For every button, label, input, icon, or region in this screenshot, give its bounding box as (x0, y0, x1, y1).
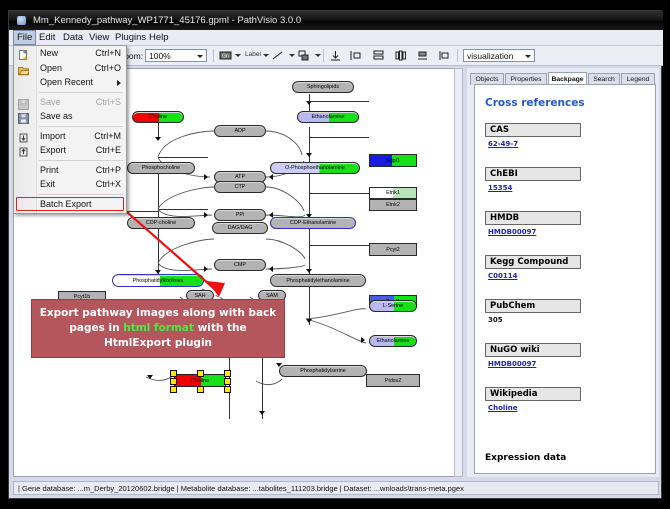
submenu-arrow-icon (117, 80, 121, 86)
menu-item-print-shortcut: Ctrl+P (96, 163, 121, 178)
selection-handle-ml[interactable] (170, 378, 177, 385)
selection-handle-tc[interactable] (197, 370, 204, 377)
menu-item-open-recent-label: Open Recent (40, 75, 93, 90)
metabolite-node-phosphocholine[interactable]: Phosphocholine (127, 162, 195, 174)
edge-etn-v2 (309, 127, 310, 167)
window-titlebar: Mm_Kennedy_pathway_WP1771_45176.gpml - P… (9, 11, 663, 30)
xref-value-kegg[interactable]: C00114 (485, 272, 581, 280)
metabolite-label-atp: ATP (235, 174, 245, 180)
expression-data-title: Expression data (485, 453, 566, 463)
xref-source-cas: CAS (485, 123, 581, 137)
metabolite-node-phosphatidylethanolamine[interactable]: Phosphatidylethanolamine (270, 274, 366, 287)
xref-kegg: Kegg Compound C00114 (485, 255, 581, 280)
menu-separator-3 (39, 160, 123, 161)
xref-hmdb: HMDB HMDB00097 (485, 211, 581, 236)
selection-handle-tr[interactable] (224, 370, 231, 377)
selection-handle-tl[interactable] (170, 370, 177, 377)
gene-label-sgpl1: Sgpl1 (386, 158, 400, 164)
menu-item-batch-export[interactable]: Batch Export (14, 197, 126, 212)
status-bar-text: | Gene database: ...m_Derby_20120602.bri… (18, 482, 464, 495)
metabolite-label-l-serine: L-Serine (383, 303, 403, 309)
edge-etn-v3 (309, 174, 310, 219)
xref-source-hmdb: HMDB (485, 211, 581, 225)
metabolite-node-ethanolamine-top[interactable]: Ethanolamine (297, 111, 359, 123)
menu-item-open-recent[interactable]: Open Recent (14, 75, 126, 90)
menu-item-save-as[interactable]: Save as (14, 109, 126, 124)
metabolite-label-choline-top: Choline (149, 114, 167, 120)
menu-item-save-shortcut: Ctrl+S (96, 95, 121, 110)
metabolite-node-choline-top[interactable]: Choline (132, 111, 184, 123)
xref-nugo: NuGO wiki HMDB00097 (485, 343, 581, 368)
xref-source-chebi: ChEBI (485, 167, 581, 181)
menu-item-exit-label: Exit (40, 177, 55, 192)
gene-node-etnk1[interactable]: Etnk1 (369, 187, 417, 199)
metabolite-node-phosphatidylserine[interactable]: Phosphatidylserine (279, 365, 367, 377)
xref-value-nugo[interactable]: HMDB00097 (485, 360, 581, 368)
selection-handle-bc[interactable] (197, 386, 204, 393)
callout-line-2: pages in html format with the (40, 321, 277, 336)
menu-item-print-label: Print (40, 163, 59, 178)
gene-label-etnk2: Etnk2 (386, 202, 400, 208)
toolbar-separator-2 (323, 49, 324, 62)
toolbar-separator-3 (457, 49, 458, 62)
arrow-pe-down (259, 411, 265, 415)
gene-label-pcyt2: Pcyt2 (386, 247, 399, 253)
metabolite-label-cdp-ethanolamine: CDP-Ethanolamine (290, 220, 336, 226)
arrow-atp-in (204, 174, 208, 180)
gene-node-ptdss2[interactable]: Ptdss2 (366, 374, 420, 387)
file-menu-dropdown[interactable]: New Ctrl+N Open Ctrl+O Open Recent Save … (13, 45, 127, 214)
visualization-combo[interactable]: visualization (463, 49, 535, 62)
edge-h-sgpl1 (309, 101, 369, 102)
menu-item-batch-export-label: Batch Export (40, 197, 92, 212)
label-tool-label[interactable]: Label (245, 51, 261, 58)
align-middle-icon[interactable] (349, 49, 362, 62)
xref-value-hmdb[interactable]: HMDB00097 (485, 228, 581, 236)
xref-value-pubchem: 305 (485, 316, 581, 324)
common-width-icon[interactable] (416, 49, 429, 62)
metabolite-label-sam: SAM (266, 293, 278, 299)
common-height-icon[interactable] (437, 49, 450, 62)
arrow-choline-1 (155, 137, 161, 141)
menu-item-new-shortcut: Ctrl+N (95, 46, 121, 61)
datanode-dropdown-arrow[interactable] (235, 54, 241, 57)
stack-center-icon[interactable] (394, 49, 407, 62)
new-document-icon (18, 48, 29, 59)
metabolite-label-sphingolipids: Sphingolipids (307, 84, 339, 90)
metabolite-node-ethanolamine-right[interactable]: Ethanolamine (369, 335, 417, 347)
metabolite-node-adp[interactable]: ADP (214, 125, 266, 137)
folder-open-icon (18, 63, 29, 74)
menu-item-import-label: Import (40, 129, 66, 144)
metabolite-node-l-serine[interactable]: L-Serine (369, 300, 417, 312)
svg-text:Gn: Gn (222, 54, 229, 60)
arrow-to-choline-sel (147, 375, 153, 379)
menu-item-save-label: Save (40, 95, 61, 110)
menu-separator-2 (39, 126, 123, 127)
metabolite-label-ctp: CTP (235, 184, 246, 190)
selection-handle-mr[interactable] (224, 378, 231, 385)
gene-node-etnk2[interactable]: Etnk2 (369, 199, 417, 211)
xref-wikipedia: Wikipedia Choline (485, 387, 581, 412)
side-panel: Objects Properties Backpage Search Legen… (467, 68, 659, 477)
xref-source-wikipedia: Wikipedia (485, 387, 581, 401)
callout-line-2-highlight: html format (123, 322, 194, 334)
arrow-pe-1 (306, 319, 312, 323)
menu-file[interactable]: File (13, 30, 36, 45)
gene-node-sgpl1[interactable]: Sgpl1 (369, 154, 417, 167)
metabolite-node-cdp-ethanolamine[interactable]: CDP-Ethanolamine (270, 217, 356, 229)
menu-item-open[interactable]: Open Ctrl+O (14, 61, 126, 76)
xref-chebi: ChEBI 15354 (485, 167, 581, 192)
edge-h-cept1 (309, 245, 369, 246)
xref-pubchem: PubChem 305 (485, 299, 581, 324)
arrow-etn-out (361, 337, 365, 343)
arrow-atp-in2 (269, 174, 273, 180)
menu-edit[interactable]: Edit (36, 31, 58, 44)
backpage-content: Cross references CAS 62-49-7 ChEBI 15354… (474, 84, 656, 474)
align-top-icon[interactable] (329, 49, 342, 62)
xref-cas: CAS 62-49-7 (485, 123, 581, 148)
metabolite-label-phosphatidylserine: Phosphatidylserine (300, 368, 346, 374)
annotation-arrow (115, 201, 265, 311)
metabolite-label-o-phosphoethanolamine: O-Phosphoethanolamine (285, 165, 345, 171)
stack-vertical-icon[interactable] (372, 49, 385, 62)
menu-item-open-label: Open (40, 61, 62, 76)
cross-references-title: Cross references (485, 97, 585, 109)
metabolite-label-phosphocholine: Phosphocholine (142, 165, 180, 171)
toolbar-separator (213, 49, 214, 62)
callout-line-3: HtmlExport plugin (40, 336, 277, 351)
menu-separator-4 (39, 194, 123, 195)
line-dropdown-arrow[interactable] (289, 54, 295, 57)
edge-h-chk (158, 157, 208, 158)
gene-label-etnk1: Etnk1 (386, 190, 400, 196)
import-icon (18, 131, 29, 142)
arrow-etn-4 (306, 269, 312, 273)
menu-item-open-shortcut: Ctrl+O (95, 61, 121, 76)
zoom-value: 100% (149, 50, 171, 63)
menu-item-exit[interactable]: Exit Ctrl+X (14, 177, 126, 192)
edge-h-etnk (309, 137, 369, 138)
callout-text: Export pathway images along with back pa… (40, 306, 277, 351)
menu-item-save: Save Ctrl+S (14, 95, 126, 110)
menubar: File Edit Data View Plugins Help (9, 30, 663, 46)
menu-item-export-shortcut: Ctrl+E (96, 143, 121, 158)
pathvisio-icon (17, 16, 26, 25)
selection-handle-br[interactable] (224, 386, 231, 393)
menu-item-import[interactable]: Import Ctrl+M (14, 129, 126, 144)
chevron-down-icon (197, 55, 203, 58)
save-icon (18, 97, 29, 108)
metabolite-label-phosphatidylethanolamine: Phosphatidylethanolamine (286, 278, 349, 284)
save-as-icon (18, 111, 29, 122)
callout-line-2-pre: pages in (69, 322, 123, 334)
menu-item-print[interactable]: Print Ctrl+P (14, 163, 126, 178)
shape-tool-icon[interactable] (297, 49, 310, 62)
xref-source-kegg: Kegg Compound (485, 255, 581, 269)
metabolite-node-ctp[interactable]: CTP (214, 181, 266, 193)
xref-value-cas[interactable]: 62-49-7 (485, 140, 581, 148)
arrow-cmp-in2 (269, 266, 273, 272)
menu-item-save-as-label: Save as (40, 109, 73, 124)
xref-source-pubchem: PubChem (485, 299, 581, 313)
metabolite-node-o-phosphoethanolamine[interactable]: O-Phosphoethanolamine (270, 162, 360, 174)
canvas-vertical-scrollbar[interactable] (454, 68, 463, 477)
datanode-tool-icon[interactable]: Gn (219, 49, 232, 62)
label-dropdown-arrow[interactable] (263, 54, 269, 57)
menu-help[interactable]: Help (146, 31, 172, 44)
visualization-value: visualization (467, 50, 513, 63)
metabolite-label-choline-selected: Choline (191, 378, 209, 384)
menu-item-export[interactable]: Export Ctrl+E (14, 143, 126, 158)
menu-item-exit-shortcut: Ctrl+X (96, 177, 121, 192)
metabolite-label-adp: ADP (234, 128, 245, 134)
menu-separator-1 (39, 92, 123, 93)
line-tool-icon[interactable] (271, 49, 284, 62)
menu-item-new-label: New (40, 46, 58, 61)
menu-item-export-label: Export (40, 143, 66, 158)
metabolite-label-ethanolamine-right: Ethanolamine (377, 338, 410, 344)
pathvisio-window: Mm_Kennedy_pathway_WP1771_45176.gpml - P… (8, 10, 662, 499)
window-title: Mm_Kennedy_pathway_WP1771_45176.gpml - P… (33, 11, 301, 30)
screenshot-root: Mm_Kennedy_pathway_WP1771_45176.gpml - P… (0, 0, 670, 509)
export-icon (18, 145, 29, 156)
menu-data[interactable]: Data (60, 31, 86, 44)
edge-h-pcyt2 (309, 193, 369, 194)
gene-node-pcyt2[interactable]: Pcyt2 (369, 243, 417, 256)
selection-handle-bl[interactable] (170, 386, 177, 393)
xref-value-wikipedia[interactable]: Choline (485, 404, 581, 412)
status-bar: | Gene database: ...m_Derby_20120602.bri… (13, 481, 659, 495)
zoom-combo[interactable]: 100% (145, 49, 207, 62)
menu-view[interactable]: View (86, 31, 112, 44)
menu-item-new[interactable]: New Ctrl+N (14, 46, 126, 61)
callout-line-2-post: with the (194, 322, 247, 334)
xref-value-chebi[interactable]: 15354 (485, 184, 581, 192)
chevron-down-icon-2 (525, 55, 531, 58)
gene-label-ptdss2: Ptdss2 (385, 378, 401, 384)
menu-item-import-shortcut: Ctrl+M (94, 129, 121, 144)
xref-source-nugo: NuGO wiki (485, 343, 581, 357)
menu-plugins[interactable]: Plugins (112, 31, 149, 44)
metabolite-node-sphingolipids[interactable]: Sphingolipids (292, 81, 354, 93)
arrow-etn-2 (306, 153, 312, 157)
shape-dropdown-arrow[interactable] (315, 54, 321, 57)
metabolite-label-ethanolamine-top: Ethanolamine (312, 114, 345, 120)
